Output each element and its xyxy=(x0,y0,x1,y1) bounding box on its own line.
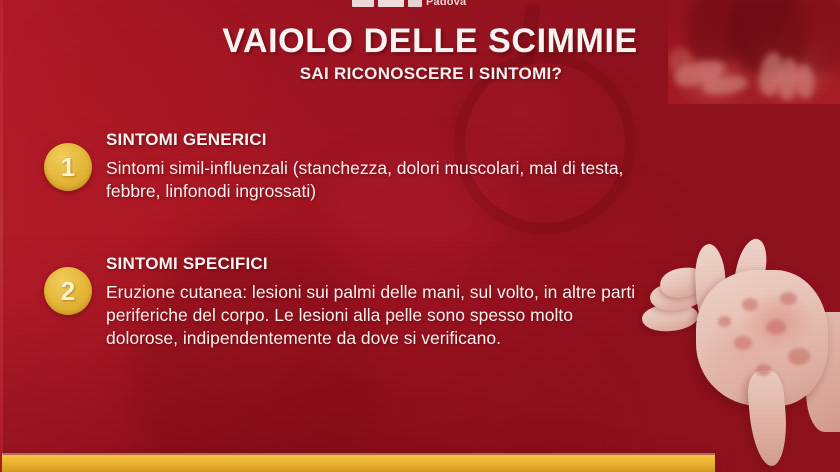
rash-lesion xyxy=(766,320,786,335)
list-item-heading: SINTOMI GENERICI xyxy=(106,130,666,150)
logo-text: Padova xyxy=(426,0,466,8)
rash-lesion xyxy=(734,336,752,350)
infographic-frame: Padova VAIOLO DELLE SCIMMIE SAI RICONOSC… xyxy=(0,0,840,472)
header: VAIOLO DELLE SCIMMIE SAI RICONOSCERE I S… xyxy=(0,22,840,84)
list-item-heading: SINTOMI SPECIFICI xyxy=(106,254,636,274)
broadcaster-logo: Padova xyxy=(352,0,466,7)
number-badge-label: 1 xyxy=(61,154,75,180)
number-badge: 2 xyxy=(44,267,92,315)
symptom-list: 1 SINTOMI GENERICI Sintomi simil-influen… xyxy=(44,126,684,350)
rash-lesion xyxy=(742,298,758,311)
logo-block-icon xyxy=(378,0,404,7)
logo-block-icon xyxy=(408,0,422,7)
bottom-bar xyxy=(2,455,715,472)
list-item-text: Eruzione cutanea: lesioni sui palmi dell… xyxy=(106,281,636,350)
list-item: 2 SINTOMI SPECIFICI Eruzione cutanea: le… xyxy=(44,250,684,350)
logo-block-icon xyxy=(352,0,374,7)
list-item-text: Sintomi simil-influenzali (stanchezza, d… xyxy=(106,157,666,203)
number-badge: 1 xyxy=(44,143,92,191)
rash-lesion xyxy=(756,364,771,376)
list-item: 1 SINTOMI GENERICI Sintomi simil-influen… xyxy=(44,126,684,203)
rash-lesion xyxy=(718,316,731,327)
rash-lesion xyxy=(788,348,810,365)
list-item-body: SINTOMI SPECIFICI Eruzione cutanea: lesi… xyxy=(106,250,636,350)
page-title: VAIOLO DELLE SCIMMIE xyxy=(0,22,840,60)
number-badge-label: 2 xyxy=(61,278,75,304)
page-subtitle: SAI RICONOSCERE I SINTOMI? xyxy=(0,64,840,84)
list-item-body: SINTOMI GENERICI Sintomi simil-influenza… xyxy=(106,126,666,203)
rash-lesion xyxy=(780,292,797,305)
